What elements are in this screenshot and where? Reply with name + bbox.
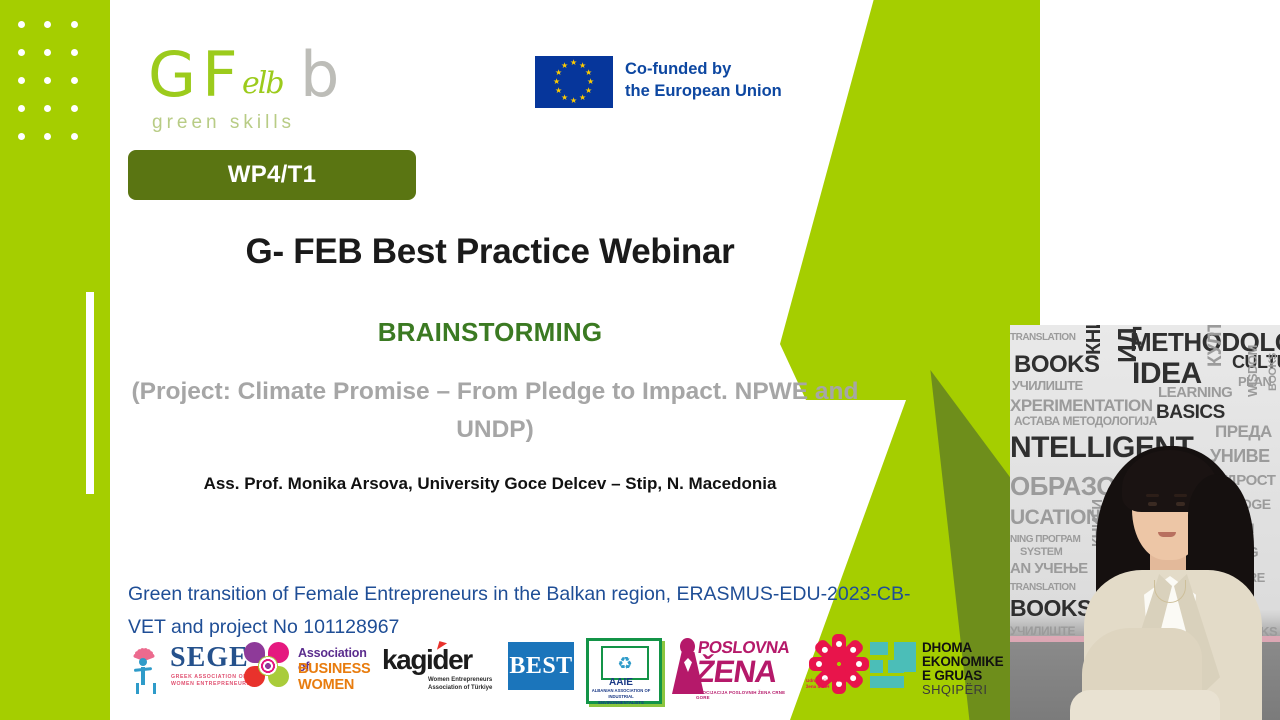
dot xyxy=(44,105,51,112)
dhoma-line-1: DHOMA xyxy=(922,640,972,655)
dot xyxy=(44,21,51,28)
eu-flag-icon xyxy=(535,56,613,108)
kagider-name: kagider xyxy=(382,644,472,676)
slide-content: G F elb b green skills xyxy=(110,0,900,720)
eye xyxy=(1176,502,1185,506)
abw-line-2: BUSINESS WOMEN xyxy=(298,661,380,693)
backdrop-word: BOOKS xyxy=(1014,353,1100,377)
gfeb-tagline: green skills xyxy=(152,112,295,134)
backdrop-word: ИД xyxy=(1114,327,1140,363)
recycle-icon: ♻ xyxy=(617,655,632,672)
eu-cofunded-logo: Co-funded by the European Union xyxy=(535,56,805,112)
dot xyxy=(71,49,78,56)
best-box: BEST xyxy=(508,642,574,690)
partner-logo-association-of-business-women: Association of BUSINESS WOMEN xyxy=(240,630,380,708)
dot xyxy=(71,105,78,112)
partner-logo-dhoma-ekonomike-e-gruas: DHOMA EKONOMIKE E GRUAS SHQIPËRI xyxy=(870,630,1010,708)
page-title: G- FEB Best Practice Webinar xyxy=(110,232,870,272)
work-package-label: WP4/T1 xyxy=(228,161,316,189)
dot xyxy=(18,105,25,112)
topic-title: BRAINSTORMING xyxy=(110,317,870,348)
gfeb-letter-f: F xyxy=(202,42,238,108)
dot xyxy=(71,21,78,28)
partner-logos-strip: SEGE GREEK ASSOCIATION OF WOMEN ENTREPRE… xyxy=(110,630,980,708)
block xyxy=(870,676,904,688)
head xyxy=(139,658,147,666)
backdrop-word: TRANSLATION xyxy=(1010,583,1075,593)
backdrop-word: КНИ xyxy=(1084,325,1104,355)
partner-logo-aaie: ♻ AAIE ALBANIAN ASSOCIATION OF INDUSTRIA… xyxy=(580,630,664,708)
upz-tagline: Udruženje poslovnih žena u BiH xyxy=(806,678,860,691)
dot xyxy=(18,21,25,28)
gfeb-letter-g: G xyxy=(148,42,196,108)
dhoma-line-2: EKONOMIKE xyxy=(922,654,1003,669)
dot xyxy=(44,49,51,56)
best-name: BEST xyxy=(509,653,572,680)
block xyxy=(870,642,888,655)
wordcloud-backdrop: METHODOLO IDEA BOOKS TRANSLATION УЧИЛИШТ… xyxy=(1010,325,1280,720)
project-subtitle-line-1: (Project: Climate Promise – From Pledge … xyxy=(131,378,727,405)
presentation-slide: METHODOLO IDEA BOOKS TRANSLATION УЧИЛИШТ… xyxy=(0,0,1280,720)
work-package-badge: WP4/T1 xyxy=(128,150,416,200)
dot xyxy=(44,77,51,84)
gfeb-wordmark: G F elb b xyxy=(130,42,360,110)
zena-tagline: ASOCIJACIJA POSLOVNIH ŽENA CRNE GORE xyxy=(696,690,792,700)
eye xyxy=(1148,502,1157,506)
dot xyxy=(71,133,78,140)
kagider-tagline: Women Entrepreneurs Association of Türki… xyxy=(428,676,506,692)
partner-logo-udruzenje-poslovnih-zena-bih: Udruženje poslovnih žena u BiH xyxy=(790,630,880,708)
aaie-emblem: ♻ xyxy=(601,646,649,680)
sege-icon xyxy=(120,638,166,694)
eu-cofunded-text: Co-funded by the European Union xyxy=(625,58,782,102)
dot xyxy=(18,77,25,84)
eu-line-2: the European Union xyxy=(625,80,782,102)
decorative-dot-grid xyxy=(8,10,88,150)
gfeb-logo: G F elb b green skills xyxy=(130,42,360,142)
dhoma-line-4: SHQIPËRI xyxy=(922,682,987,697)
block xyxy=(870,660,883,673)
block xyxy=(888,660,904,673)
dhoma-icon xyxy=(870,642,916,688)
legs xyxy=(136,683,156,694)
backdrop-word: SYSTEM xyxy=(1020,547,1062,558)
target-ring xyxy=(258,656,278,676)
speaker-figure xyxy=(1070,390,1280,720)
dot xyxy=(44,133,51,140)
backdrop-word: TRANSLATION xyxy=(1010,333,1075,343)
gfeb-script-leaves: elb xyxy=(242,66,304,102)
aaie-name: AAIE xyxy=(589,677,653,688)
partner-logo-kagider: kagider Women Entrepreneurs Association … xyxy=(380,630,500,708)
eyebrow xyxy=(1146,494,1159,497)
dot xyxy=(18,49,25,56)
zena-line-2: ŽENA xyxy=(693,654,778,690)
lap xyxy=(1070,690,1220,720)
dot xyxy=(71,77,78,84)
aaie-tagline: ALBANIAN ASSOCIATION OF INDUSTRIAL ENVIR… xyxy=(589,688,653,706)
sege-name: SEGE xyxy=(170,642,249,674)
eyebrow xyxy=(1174,494,1187,497)
gfeb-letter-b: b xyxy=(300,42,339,108)
dhoma-line-3: E GRUAS xyxy=(922,668,982,683)
backdrop-word: КУЛТУРА xyxy=(1206,325,1225,367)
partner-logo-sege: SEGE GREEK ASSOCIATION OF WOMEN ENTREPRE… xyxy=(118,630,248,708)
sege-figure xyxy=(134,658,152,694)
presenter-name: Ass. Prof. Monika Arsova, University Goc… xyxy=(110,474,870,494)
eu-line-1: Co-funded by xyxy=(625,58,782,80)
mouth xyxy=(1158,532,1176,537)
white-accent-bar xyxy=(86,292,94,494)
aaie-box: ♻ AAIE ALBANIAN ASSOCIATION OF INDUSTRIA… xyxy=(586,638,662,704)
project-subtitle: (Project: Climate Promise – From Pledge … xyxy=(130,373,860,449)
dot xyxy=(18,133,25,140)
partner-logo-poslovna-zena: POSLOVNA ŽENA ASOCIJACIJA POSLOVNIH ŽENA… xyxy=(668,630,788,708)
backdrop-word: BOOKS xyxy=(1268,353,1279,391)
eu-stars xyxy=(554,62,594,102)
abw-icon xyxy=(244,642,292,688)
speaker-photo: METHODOLO IDEA BOOKS TRANSLATION УЧИЛИШТ… xyxy=(1010,325,1280,720)
partner-logo-best: BEST xyxy=(502,630,576,708)
